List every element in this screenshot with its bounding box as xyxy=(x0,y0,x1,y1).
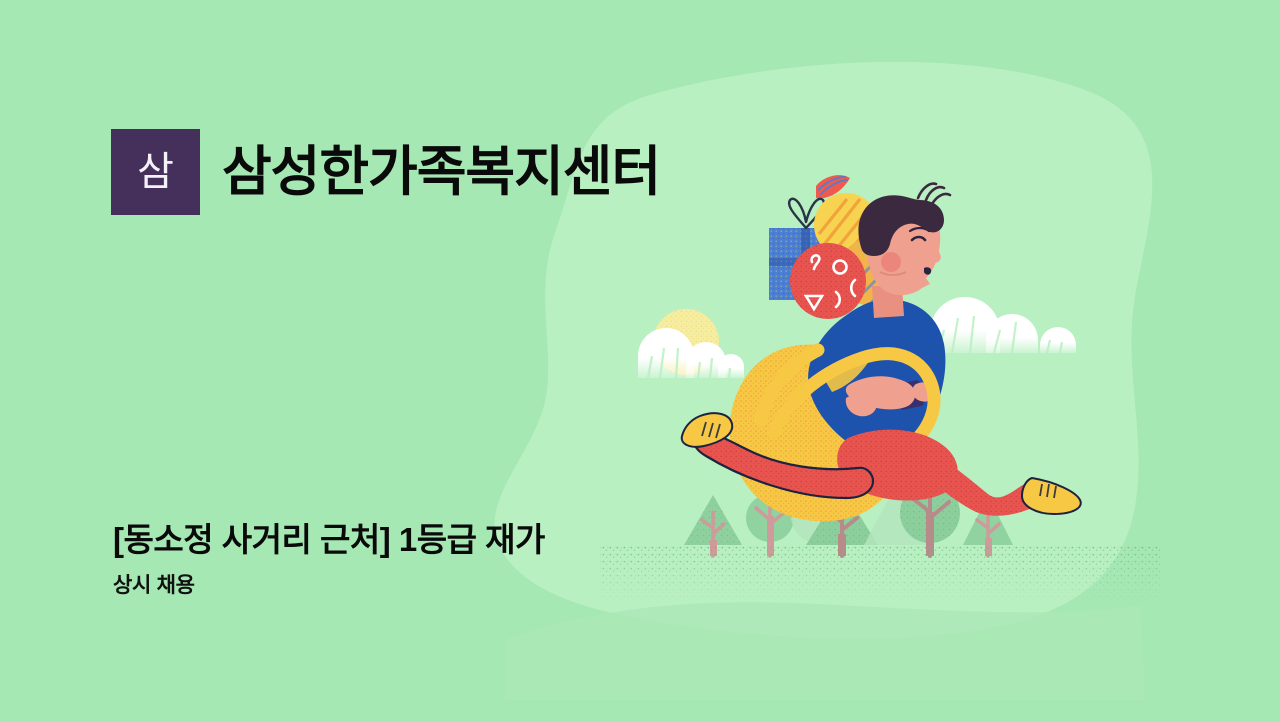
runner-shirt xyxy=(808,299,945,459)
clouds-left xyxy=(638,328,744,378)
runner-front-arm xyxy=(846,376,915,409)
runner-back-leg xyxy=(693,431,873,498)
runner-head xyxy=(866,198,940,295)
confetti-ribbon xyxy=(816,175,850,198)
runner-figure xyxy=(682,175,1081,521)
company-logo-glyph: 삼 xyxy=(137,152,174,192)
sack-strap xyxy=(774,354,934,452)
runner-hand-back xyxy=(912,382,936,401)
ball-orange-striped xyxy=(838,238,906,306)
runner-back-arm xyxy=(828,372,889,414)
runner-cuff xyxy=(896,380,925,410)
brand-row: 삼 삼성한가족복지센터 xyxy=(111,129,660,215)
runner-hips xyxy=(837,430,958,501)
company-logo-badge: 삼 xyxy=(111,129,200,215)
clouds-right xyxy=(930,297,1076,353)
trees xyxy=(684,483,1013,556)
company-name: 삼성한가족복지센터 xyxy=(222,144,660,201)
runner-neck xyxy=(872,286,904,318)
job-text-block: [동소정 사거리 근처] 1등급 재가 상시 채용 xyxy=(113,519,545,598)
runner-cheek xyxy=(881,252,901,272)
ball-red-symbols xyxy=(790,243,866,319)
runner-mouth xyxy=(924,267,931,274)
runner-shoe-back xyxy=(682,413,732,447)
sun-shape xyxy=(653,309,719,375)
job-title: [동소정 사거리 근처] 1등급 재가 xyxy=(113,519,545,560)
foreground-hill xyxy=(505,602,1145,700)
runner-shoe-front xyxy=(1022,478,1081,514)
gift-sack xyxy=(730,345,903,522)
ground-speckle xyxy=(600,545,1160,605)
gift-box-blue xyxy=(769,199,847,300)
runner-hand-front xyxy=(846,394,877,417)
illustration-running-person xyxy=(0,0,1280,722)
ball-yellow-striped xyxy=(814,193,878,257)
background-blob xyxy=(0,0,1280,722)
runner-eye xyxy=(912,237,925,240)
runner-front-leg xyxy=(916,450,1047,515)
runner-hair xyxy=(858,195,944,256)
job-subtitle: 상시 채용 xyxy=(113,573,545,598)
job-poster: 삼 삼성한가족복지센터 [동소정 사거리 근처] 1등급 재가 상시 채용 xyxy=(0,0,1280,722)
